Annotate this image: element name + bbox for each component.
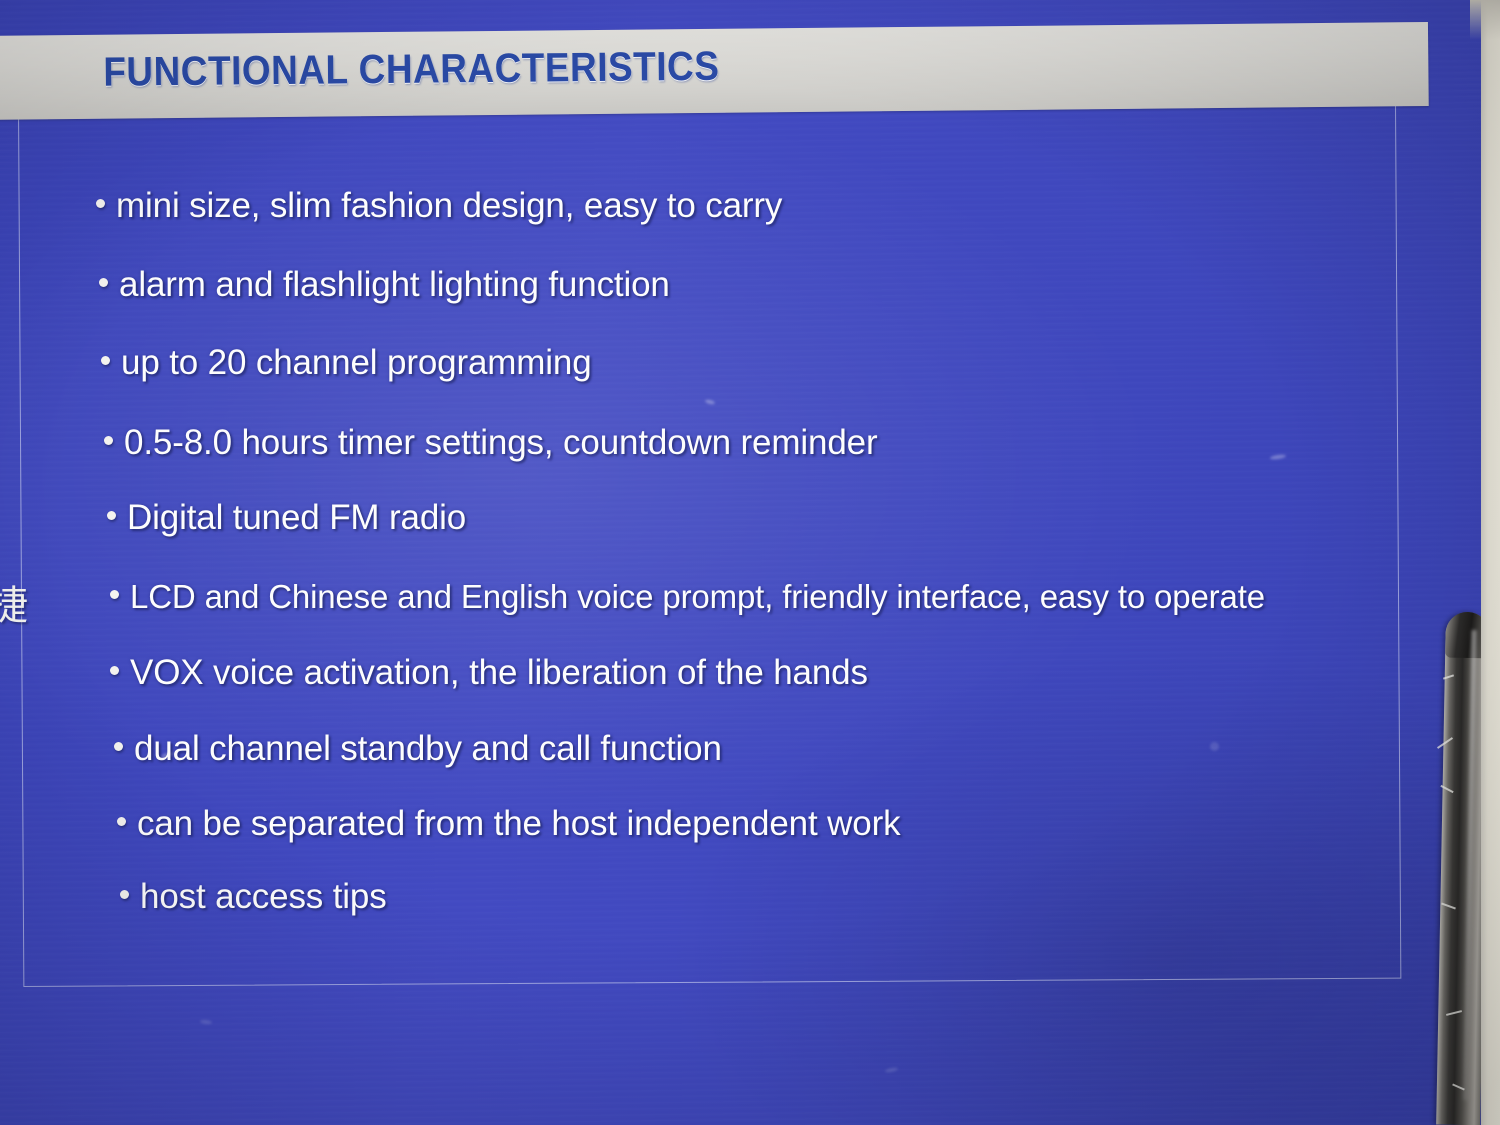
list-item-label: Digital tuned FM radio <box>127 498 466 538</box>
list-item-label: mini size, slim fashion design, easy to … <box>116 186 782 226</box>
list-item: VOX voice activation, the liberation of … <box>110 653 868 693</box>
list-item: 0.5-8.0 hours timer settings, countdown … <box>104 423 877 463</box>
list-item: host access tips <box>120 877 387 917</box>
product-box-photo: FUNCTIONAL CHARACTERISTICS 捷 mini size, … <box>0 0 1500 1125</box>
list-item: dual channel standby and call function <box>114 729 722 769</box>
partial-chinese-character: 捷 <box>0 573 28 631</box>
bullet-dot-icon <box>104 436 113 445</box>
bullet-dot-icon <box>99 278 108 287</box>
bullet-dot-icon <box>101 356 110 365</box>
bullet-dot-icon <box>107 511 116 520</box>
list-item-label: host access tips <box>140 877 387 917</box>
list-item-label: VOX voice activation, the liberation of … <box>130 653 868 693</box>
list-item-label: alarm and flashlight lighting function <box>119 265 670 305</box>
bullet-dot-icon <box>117 817 126 826</box>
background-strip-shadow <box>1470 0 1500 40</box>
list-item: alarm and flashlight lighting function <box>99 265 670 305</box>
list-item: up to 20 channel programming <box>101 343 592 383</box>
bullet-dot-icon <box>114 742 123 751</box>
list-item-label: LCD and Chinese and English voice prompt… <box>130 578 1265 616</box>
list-item-label: can be separated from the host independe… <box>137 804 900 844</box>
background-strip <box>1481 0 1500 1125</box>
antenna-highlight <box>1463 630 1477 1100</box>
list-item: can be separated from the host independe… <box>117 804 900 844</box>
section-header-band: FUNCTIONAL CHARACTERISTICS <box>0 22 1429 120</box>
list-item-label: up to 20 channel programming <box>121 343 592 383</box>
list-item-label: dual channel standby and call function <box>134 729 722 769</box>
list-item-label: 0.5-8.0 hours timer settings, countdown … <box>124 423 877 463</box>
bullet-dot-icon <box>120 890 129 899</box>
bullet-dot-icon <box>110 590 119 599</box>
list-item: mini size, slim fashion design, easy to … <box>96 186 782 226</box>
bullet-dot-icon <box>110 666 119 675</box>
list-item: Digital tuned FM radio <box>107 498 466 538</box>
blue-cardboard-panel <box>0 0 1500 1125</box>
page-title: FUNCTIONAL CHARACTERISTICS <box>103 43 719 96</box>
bullet-dot-icon <box>96 199 105 208</box>
list-item: LCD and Chinese and English voice prompt… <box>110 578 1265 616</box>
